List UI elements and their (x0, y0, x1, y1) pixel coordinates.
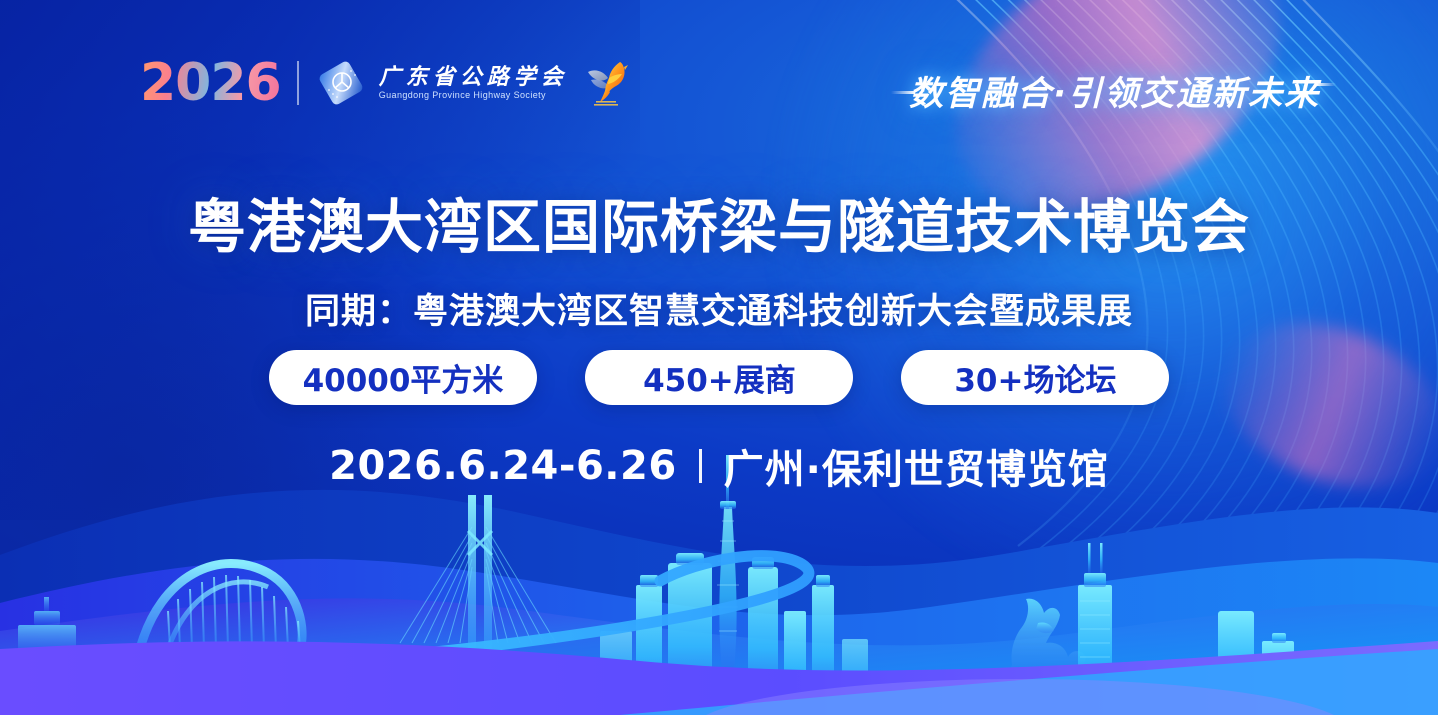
event-tagline: 数智融合·引领交通新未来 (909, 66, 1320, 115)
tagline-rule-right (1316, 83, 1336, 86)
stat-pill-area[interactable]: 40000平方米 (269, 350, 538, 405)
event-banner: 2026 (0, 0, 1438, 715)
event-venue: 广州·保利世贸博览馆 (724, 437, 1109, 495)
organizer-name-en: Guangdong Province Highway Society (379, 91, 568, 100)
tagline-text: 数智融合·引领交通新未来 (909, 66, 1320, 115)
logo-lockup: 2026 (140, 56, 630, 110)
tagline-rule-left (891, 91, 915, 94)
organizer-name-cn: 广东省公路学会 (379, 67, 568, 89)
logo-divider (297, 61, 299, 105)
phoenix-bird-icon (582, 56, 630, 110)
event-meta: 2026.6.24-6.26 广州·保利世贸博览馆 (0, 437, 1438, 495)
organizer-logo: 广东省公路学会 Guangdong Province Highway Socie… (315, 57, 568, 109)
stat-pill-forums[interactable]: 30+场论坛 (901, 350, 1169, 405)
organizer-name-block: 广东省公路学会 Guangdong Province Highway Socie… (379, 67, 568, 100)
year-logo: 2026 (140, 57, 281, 109)
banner-header: 2026 (0, 0, 1438, 140)
event-date: 2026.6.24-6.26 (329, 443, 677, 489)
stat-pill-exhibitors[interactable]: 450+展商 (585, 350, 853, 405)
guangdong-highway-diamond-icon (315, 57, 369, 109)
stat-pill-group: 40000平方米 450+展商 30+场论坛 (0, 350, 1438, 405)
meta-separator (699, 449, 702, 483)
page-title: 粤港澳大湾区国际桥梁与隧道技术博览会 (0, 197, 1438, 258)
page-subtitle: 同期：粤港澳大湾区智慧交通科技创新大会暨成果展 (0, 283, 1438, 334)
